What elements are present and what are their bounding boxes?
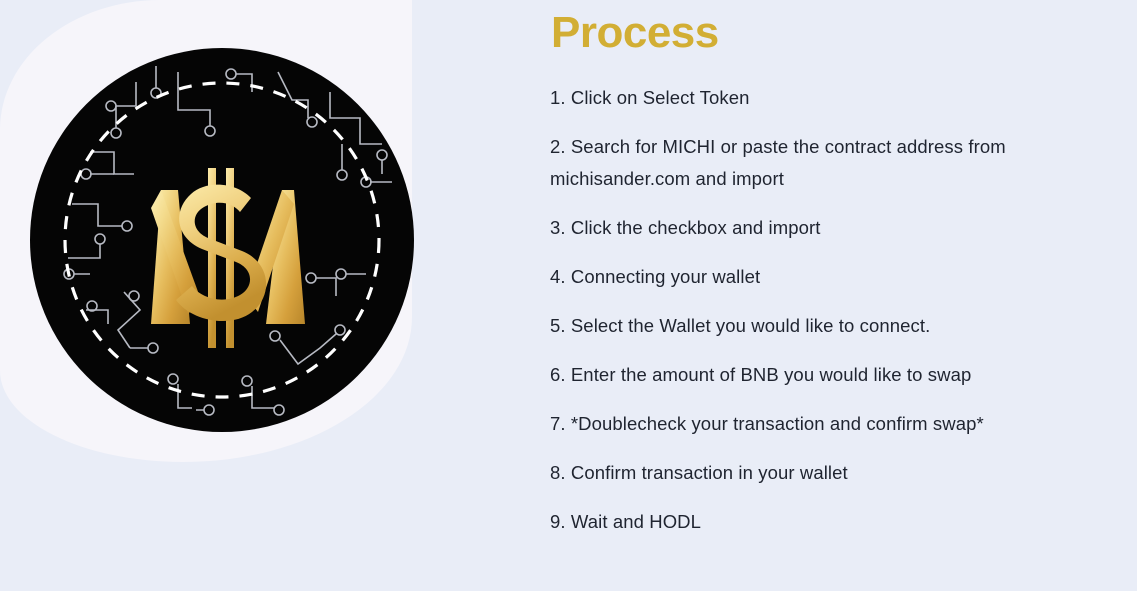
- coin-body: [30, 48, 414, 432]
- page-title: Process: [551, 8, 719, 59]
- logo-panel: [0, 0, 412, 462]
- process-step: 4. Connecting your wallet: [550, 261, 1070, 293]
- logo-image: [30, 48, 414, 432]
- process-step: 5. Select the Wallet you would like to c…: [550, 310, 1070, 342]
- process-steps-list: 1. Click on Select Token 2. Search for M…: [550, 82, 1070, 538]
- process-step: 1. Click on Select Token: [550, 82, 1070, 114]
- process-step: 7. *Doublecheck your transaction and con…: [550, 408, 1070, 440]
- process-section: Process 1. Click on Select Token 2. Sear…: [548, 0, 1108, 591]
- process-step: 3. Click the checkbox and import: [550, 212, 1070, 244]
- process-step: 2. Search for MICHI or paste the contrac…: [550, 131, 1070, 195]
- process-step: 8. Confirm transaction in your wallet: [550, 457, 1070, 489]
- page-root: Process 1. Click on Select Token 2. Sear…: [0, 0, 1137, 591]
- process-step: 9. Wait and HODL: [550, 506, 1070, 538]
- process-step: 6. Enter the amount of BNB you would lik…: [550, 359, 1070, 391]
